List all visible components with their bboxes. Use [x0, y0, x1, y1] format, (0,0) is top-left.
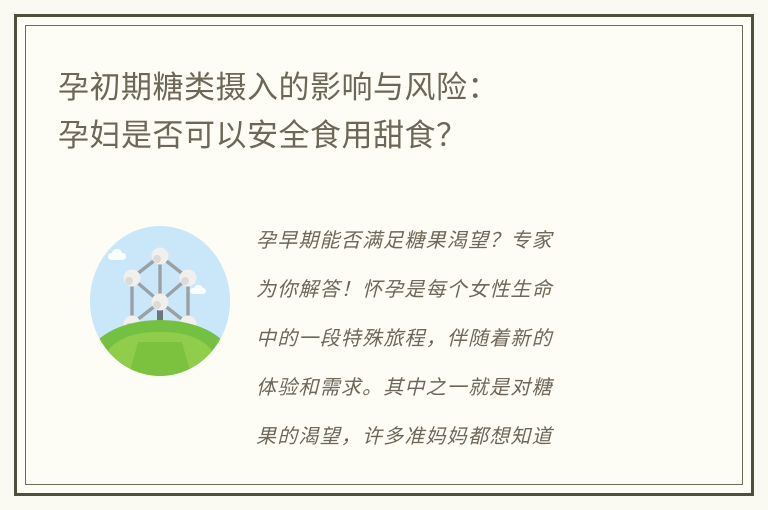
title-line-2: 孕妇是否可以安全食用甜食？ — [58, 112, 618, 160]
body-line-4: 体验和需求。其中之一就是对糖 — [256, 363, 696, 412]
body-line-2: 为你解答！怀孕是每个女性生命 — [256, 265, 696, 314]
article-card-inner-frame: 孕初期糖类摄入的影响与风险： 孕妇是否可以安全食用甜食？ — [25, 25, 743, 485]
title-line-1: 孕初期糖类摄入的影响与风险： — [58, 64, 618, 112]
atomium-illustration — [90, 226, 230, 376]
article-card: 孕初期糖类摄入的影响与风险： 孕妇是否可以安全食用甜食？ — [14, 14, 754, 496]
body-line-5: 果的渴望，许多准妈妈都想知道 — [256, 412, 696, 461]
page-title: 孕初期糖类摄入的影响与风险： 孕妇是否可以安全食用甜食？ — [58, 64, 618, 160]
article-thumbnail — [90, 226, 230, 376]
body-line-3: 中的一段特殊旅程，伴随着新的 — [256, 314, 696, 363]
article-body: 孕早期能否满足糖果渴望？专家 为你解答！怀孕是每个女性生命 中的一段特殊旅程，伴… — [256, 216, 696, 461]
body-line-1: 孕早期能否满足糖果渴望？专家 — [256, 216, 696, 265]
